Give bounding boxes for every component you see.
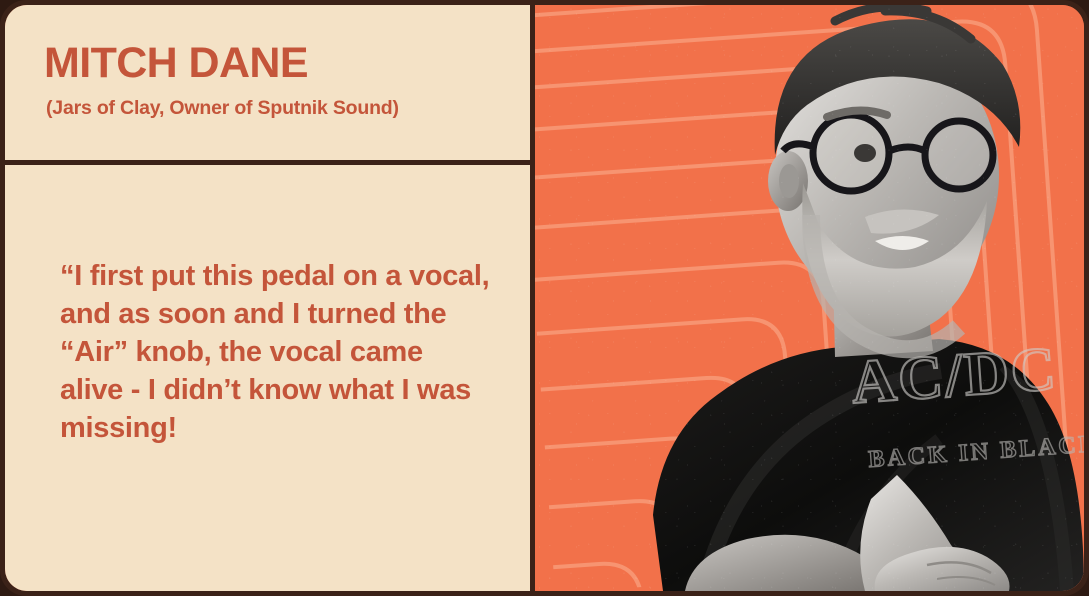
card-inner-frame: MITCH DANE (Jars of Clay, Owner of Sputn… — [5, 5, 1084, 591]
person-header: MITCH DANE (Jars of Clay, Owner of Sputn… — [5, 5, 530, 160]
person-name: MITCH DANE — [44, 41, 502, 86]
testimonial-card: MITCH DANE (Jars of Clay, Owner of Sputn… — [0, 0, 1089, 596]
portrait-panel: AC/DC BACK IN BLACK — [535, 5, 1084, 591]
person-role: (Jars of Clay, Owner of Sputnik Sound) — [46, 97, 502, 120]
column-divider — [530, 5, 535, 591]
quote-text: “I first put this pedal on a vocal, and … — [60, 257, 492, 447]
shirt-graphic: AC/DC BACK IN BLACK — [849, 335, 1084, 473]
quote-panel: MITCH DANE (Jars of Clay, Owner of Sputn… — [5, 5, 530, 591]
portrait-photo: AC/DC BACK IN BLACK — [535, 5, 1084, 591]
quote-block: “I first put this pedal on a vocal, and … — [5, 165, 530, 591]
